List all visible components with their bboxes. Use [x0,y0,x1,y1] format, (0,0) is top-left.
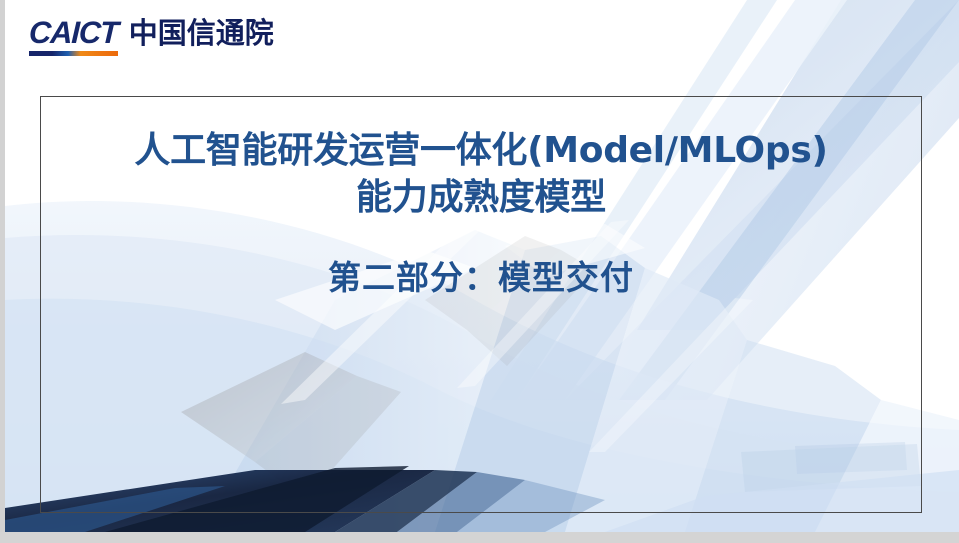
caict-logo-latin-text: CAICT [28,16,118,50]
caict-logo: CAICT 中国信通院 [29,16,274,56]
content-frame: 人工智能研发运营一体化(Model/MLOps) 能力成熟度模型 第二部分：模型… [40,96,922,513]
page-subtitle: 第二部分：模型交付 [41,221,921,299]
caict-logo-underline [29,51,118,56]
viewer-gutter-left [0,0,5,543]
page-title-line-2: 能力成熟度模型 [41,174,921,221]
page-title: 人工智能研发运营一体化(Model/MLOps) 能力成熟度模型 [41,97,921,221]
caict-logo-chinese: 中国信通院 [129,16,274,50]
caict-logo-latin: CAICT [29,16,118,56]
viewer-gutter-bottom [0,532,959,543]
slide-viewer: CAICT 中国信通院 人工智能研发运营一体化(Model/MLOps) 能力成… [0,0,959,543]
page-title-line-1: 人工智能研发运营一体化(Model/MLOps) [134,130,827,171]
slide-canvas: CAICT 中国信通院 人工智能研发运营一体化(Model/MLOps) 能力成… [5,0,959,532]
title-block: 人工智能研发运营一体化(Model/MLOps) 能力成熟度模型 第二部分：模型… [41,97,921,299]
